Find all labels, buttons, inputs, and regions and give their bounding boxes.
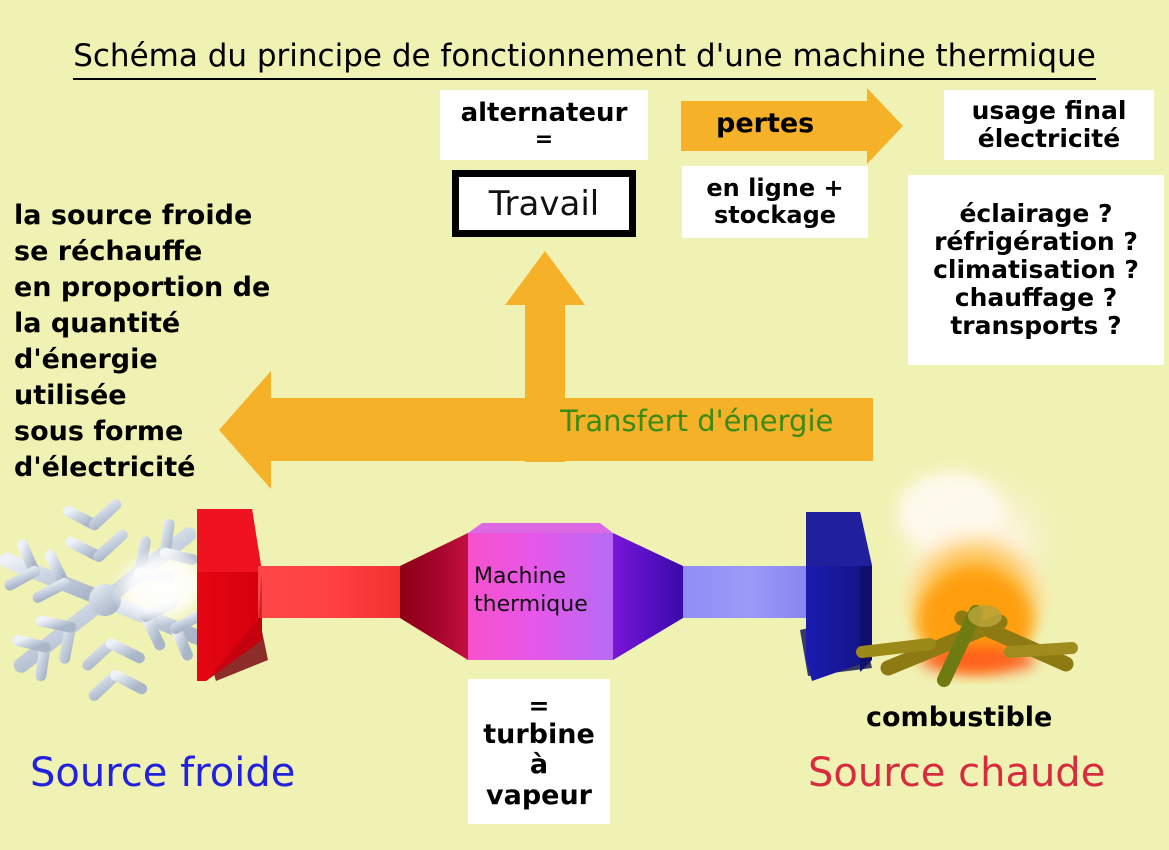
cold-source-explanation: la source froide se réchauffe en proport… <box>14 198 344 486</box>
diagram-canvas: Schéma du principe de fonctionnement d'u… <box>0 0 1169 850</box>
explanation-line-3: en proportion de <box>14 270 344 306</box>
pertes-label: pertes <box>716 108 814 139</box>
machine-line2: thermique <box>474 591 604 619</box>
usage-item-chauffage: chauffage ? <box>955 284 1117 312</box>
usages-list-box: éclairage ? réfrigération ? climatisatio… <box>908 175 1164 365</box>
explanation-line-2: se réchauffe <box>14 234 344 270</box>
source-chaude-label: Source chaude <box>808 750 1105 796</box>
transfert-energie-label: Transfert d'énergie <box>560 404 833 438</box>
usage-final-box: usage final électricité <box>944 90 1154 160</box>
alternateur-equals: = <box>535 129 553 151</box>
usage-item-climatisation: climatisation ? <box>933 256 1139 284</box>
en-ligne-stockage-box: en ligne + stockage <box>682 166 868 238</box>
usage-item-refrigeration: réfrigération ? <box>934 228 1138 256</box>
explanation-line-5: d'énergie <box>14 342 344 378</box>
usage-final-line2: électricité <box>978 125 1120 153</box>
combustible-label: combustible <box>866 702 1052 733</box>
cold-source-block <box>197 509 468 681</box>
turbine-line4: vapeur <box>486 781 592 811</box>
explanation-line-8: d'électricité <box>14 450 344 486</box>
en-ligne-line2: stockage <box>714 202 836 229</box>
explanation-line-1: la source froide <box>14 198 344 234</box>
hot-source-block <box>613 512 872 681</box>
explanation-line-6: utilisée <box>14 378 344 414</box>
machine-line1: Machine <box>474 563 604 591</box>
usage-item-eclairage: éclairage ? <box>959 200 1112 228</box>
snowflake-icon <box>0 480 229 718</box>
travail-box: Travail <box>452 170 636 237</box>
travail-label: Travail <box>489 184 599 224</box>
turbine-line3: à <box>530 750 548 780</box>
en-ligne-line1: en ligne + <box>706 175 843 202</box>
source-froide-label: Source froide <box>30 750 295 796</box>
turbine-box: = turbine à vapeur <box>468 679 610 824</box>
turbine-equals: = <box>529 692 550 720</box>
explanation-line-4: la quantité <box>14 306 344 342</box>
machine-thermique-label: Machine thermique <box>474 563 604 619</box>
explanation-line-7: sous forme <box>14 414 344 450</box>
alternateur-box: alternateur = <box>440 90 648 160</box>
turbine-line2: turbine <box>483 720 595 750</box>
usage-item-transports: transports ? <box>950 312 1121 340</box>
alternateur-label: alternateur <box>461 99 628 128</box>
campfire-icon <box>862 472 1072 680</box>
usage-final-line1: usage final <box>972 97 1127 125</box>
